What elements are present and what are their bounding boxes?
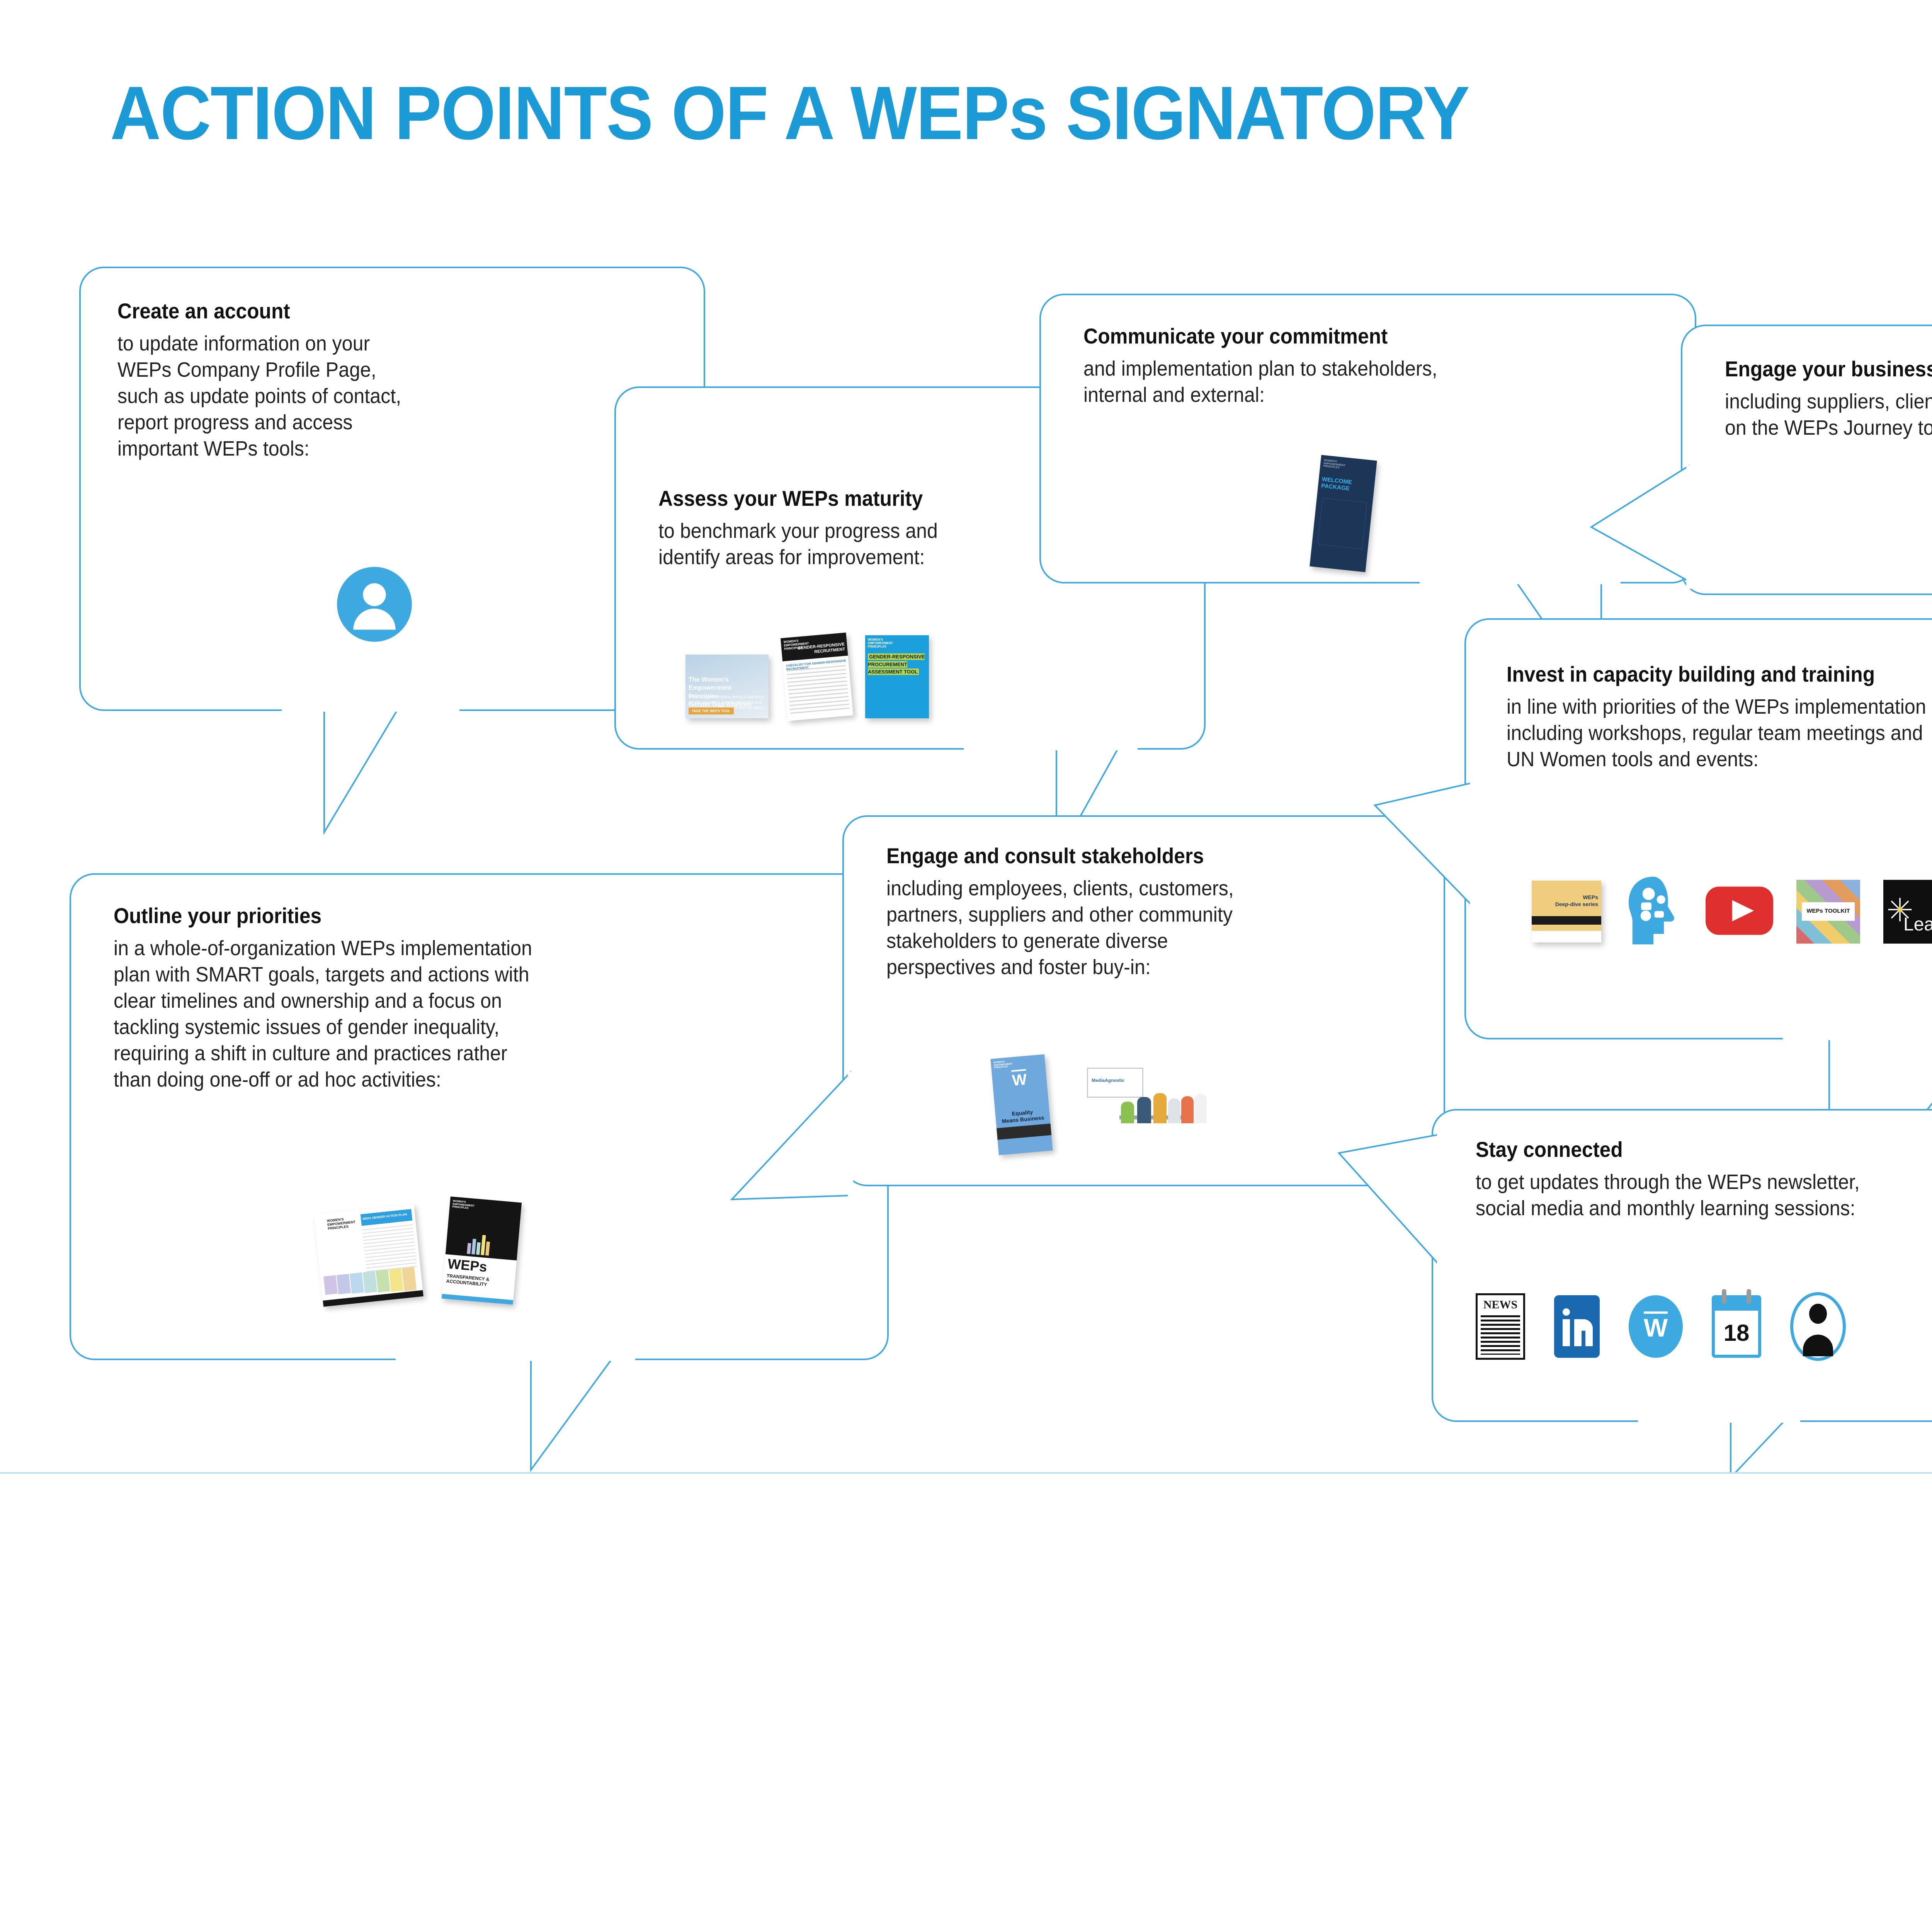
welcome-package-booklet[interactable]: WOMEN'S EMPOWERMENT PRINCIPLES WELCOME P… [1310,455,1377,572]
asset-row: NEWS W 18 [1476,1292,1846,1361]
bubble-title: Communicate your commitment [1083,324,1434,349]
bubble-title: Invest in capacity building and training [1507,662,1932,687]
weps-transparency-accountability-guide[interactable]: WOMEN'S EMPOWERMENT PRINCIPLES WEPs TRAN… [442,1196,522,1304]
asset-row: WOMEN'S EMPOWERMENT PRINCIPLES W Equalit… [995,1056,1209,1153]
bubble-invest-in-capacity-building-and-training[interactable]: Invest in capacity building and training… [1464,618,1932,1039]
asset-title: Equality Means Business [997,1107,1048,1125]
learn-logo[interactable]: Learn [1883,880,1932,944]
bubble-tail [1590,465,1690,589]
youtube-icon[interactable] [1706,886,1773,938]
calendar-18-icon[interactable]: 18 [1712,1295,1761,1358]
calendar-day: 18 [1724,1320,1750,1346]
bubble-body: in a whole-of-organization WEPs implemen… [114,935,532,1093]
bubble-tail [1373,782,1474,910]
bubble-body: in line with priorities of the WEPs impl… [1507,694,1932,772]
bubble-body: to update information on your WEPs Compa… [117,330,401,462]
asset-title: GENDER-RESPONSIVE PROCUREMENT ASSESSMENT… [868,653,925,676]
asset-sub: Deep-dive series [1555,901,1598,908]
asset-title: WEPs [447,1257,488,1274]
header: ACTION POINTS OF A WEPs SIGNATORY [0,0,1932,240]
gender-gap-analysis-tool-cover[interactable]: The Women's Empowerment Principles Gende… [685,655,769,718]
bubble-engage-your-business-partners[interactable]: Engage your business partners including … [1681,325,1932,595]
asset-cta[interactable]: TAKE THE WEPS TOOL [689,707,734,714]
asset-title: WELCOME PACKAGE [1321,476,1352,492]
bubble-stay-connected[interactable]: Stay connected to get updates through th… [1432,1109,1932,1422]
asset-row: The Women's Empowerment Principles Gende… [685,635,929,718]
asset-title: WEPs [1555,894,1598,901]
meeting-illustration[interactable]: MediaAgnostic [1085,1066,1209,1143]
footer: 10 000+ SIGNATORIES Advancing gender equ… [0,1474,1932,1739]
bubble-body: including suppliers, clients and other s… [1725,388,1932,441]
asset-row: WEPs Deep-dive series WEPs TOOLKIT [1532,875,1932,948]
bubble-title: Engage your business partners [1725,357,1932,381]
asset-sub: TRANSPARENCY & ACCOUNTABILITY [446,1273,490,1287]
linkedin-icon[interactable] [1554,1295,1600,1358]
weps-w-icon[interactable]: W [1629,1295,1683,1358]
bubble-engage-and-consult-stakeholders[interactable]: Engage and consult stakeholders includin… [842,815,1445,1186]
bubble-create-an-account[interactable]: Create an account to update information … [79,267,705,711]
page-title: ACTION POINTS OF A WEPs SIGNATORY [110,75,1469,151]
bubble-tail [282,709,459,836]
gender-responsive-procurement-assessment-tool[interactable]: WOMEN'S EMPOWERMENT PRINCIPLES GENDER-RE… [865,635,929,718]
webinar-person-icon[interactable] [1790,1292,1846,1361]
asset-title: Learn [1903,914,1932,935]
bubble-title: Outline your priorities [114,904,527,928]
weps-gender-action-plan[interactable]: WOMEN'S EMPOWERMENT PRINCIPLES WEPs GEND… [314,1204,423,1307]
asset-brand: WOMEN'S EMPOWERMENT PRINCIPLES [993,1060,1013,1070]
asset-row: WOMEN'S EMPOWERMENT PRINCIPLES WEPs GEND… [318,1199,517,1302]
asset-brand: WOMEN'S EMPOWERMENT PRINCIPLES [868,638,893,648]
weps-deep-dive-series-card[interactable]: WEPs Deep-dive series [1532,881,1601,942]
asset-title: WEPs TOOLKIT [1796,908,1860,914]
asset-w-mark: W [1011,1069,1027,1088]
w-mark: W [1644,1311,1668,1341]
newspaper-icon[interactable]: NEWS [1476,1293,1525,1360]
thinking-head-icon[interactable] [1624,875,1682,948]
asset-brand: WOMEN'S EMPOWERMENT PRINCIPLES [327,1216,356,1231]
news-masthead: NEWS [1478,1298,1523,1311]
wep-account-avatar[interactable] [336,566,413,645]
bubble-body: to get updates through the WEPs newslett… [1476,1169,1860,1221]
bubble-body: and implementation plan to stakeholders,… [1083,355,1437,408]
gender-responsive-recruitment-checklist[interactable]: WOMEN'S EMPOWERMENT PRINCIPLES GENDER-RE… [781,633,853,721]
bubble-title: Create an account [117,299,398,323]
bubble-title: Engage and consult stakeholders [886,844,1230,868]
bubble-body: including employees, clients, customers,… [886,875,1234,980]
bubble-title: Assess your WEPs maturity [658,486,935,511]
bubble-title: Stay connected [1476,1138,1855,1162]
bubble-body: to benchmark your progress and identify … [658,518,938,570]
equality-means-business-booklet[interactable]: WOMEN'S EMPOWERMENT PRINCIPLES W Equalit… [990,1054,1053,1155]
bubble-tail [728,1072,852,1203]
asset-brand: WOMEN'S EMPOWERMENT PRINCIPLES [1323,459,1346,470]
weps-toolkit-puzzle[interactable]: WEPs TOOLKIT [1796,880,1860,944]
bubble-tail [1337,1134,1441,1273]
asset-brand: WOMEN'S EMPOWERMENT PRINCIPLES [452,1200,475,1211]
bubble-tail [396,1358,635,1474]
